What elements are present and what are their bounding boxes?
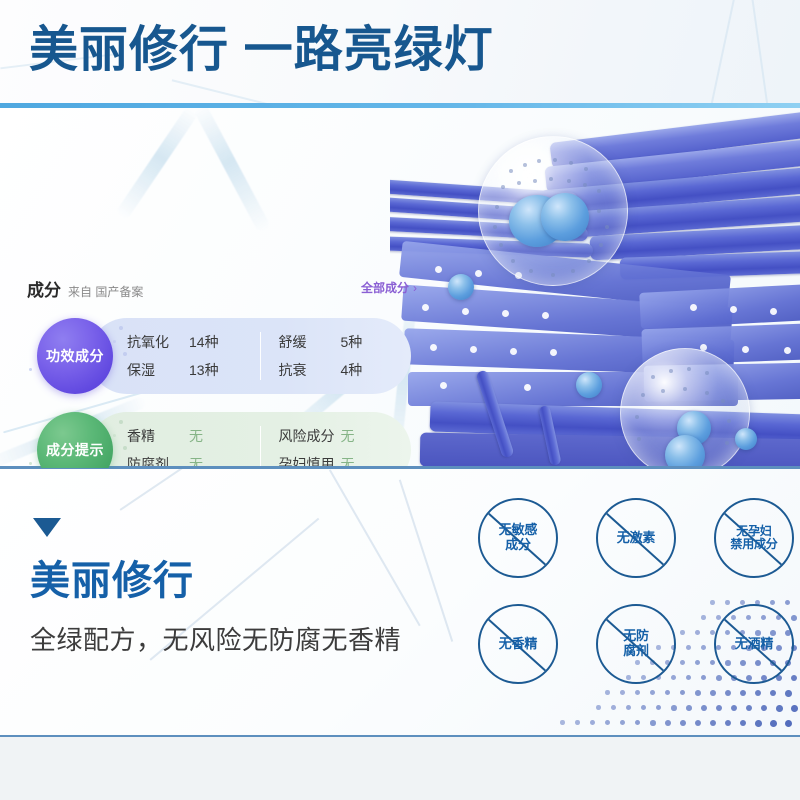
halftone-dot: [611, 705, 616, 710]
warning-item: 风险成分 无: [279, 426, 412, 446]
page-header: 美丽修行 一路亮绿灯: [0, 0, 800, 106]
claim-badge-line2: 成分: [505, 537, 531, 552]
claim-badge-label: 无激素: [617, 531, 655, 546]
structure-pip: [542, 312, 549, 319]
claim-badge-line1: 无酒精: [735, 636, 773, 651]
ingredient-card-header: 成分 来自 国产备案 全部成分›: [27, 276, 417, 302]
structure-pip: [550, 349, 557, 356]
brand-tagline: 全绿配方，无风险无防腐无香精: [30, 627, 401, 653]
claim-badge-line1: 无孕妇: [736, 524, 771, 538]
claim-badge-line1: 无香精: [499, 636, 537, 651]
claim-badge-line1: 无防: [623, 628, 649, 643]
structure-pip: [742, 346, 749, 353]
claim-badge-line1: 无敏感: [499, 522, 537, 537]
claim-badge-line2: 腐剂: [623, 643, 649, 658]
claim-badge-line1: 无激素: [617, 530, 655, 545]
halftone-dot: [755, 720, 762, 727]
all-ingredients-link[interactable]: 全部成分›: [361, 279, 417, 296]
halftone-dot: [605, 720, 610, 725]
halftone-dot: [710, 720, 716, 726]
claim-badge-no-alcohol[interactable]: 无酒精: [714, 604, 794, 684]
brand-name: 美丽修行: [30, 561, 194, 601]
halftone-dot: [761, 705, 767, 711]
structure-pip: [690, 304, 697, 311]
halftone-dot: [620, 720, 625, 725]
structure-pip: [440, 382, 447, 389]
claim-badge-line2: 禁用成分: [730, 537, 777, 551]
claim-badge-label: 无酒精: [735, 637, 773, 652]
structure-pip: [502, 310, 509, 317]
sphere-core: [735, 428, 757, 450]
halftone-dot: [656, 705, 661, 710]
halftone-dot: [740, 720, 746, 726]
claim-badge-label: 无孕妇 禁用成分: [730, 525, 777, 552]
structure-pip: [524, 384, 531, 391]
sphere-core: [448, 274, 474, 300]
ingredient-key: 舒缓: [279, 332, 341, 352]
halftone-dot: [791, 705, 798, 712]
all-ingredients-link-label: 全部成分: [361, 281, 409, 295]
claim-badge-no-fragrance[interactable]: 无香精: [478, 604, 558, 684]
sphere-core: [576, 372, 602, 398]
claim-badge-no-hormones[interactable]: 无激素: [596, 498, 676, 578]
warning-value: 无: [189, 426, 203, 446]
page-title: 美丽修行 一路亮绿灯: [29, 26, 494, 75]
decorative-diagonal: [329, 469, 420, 626]
ingredient-column-2: 舒缓 5种 抗衰 4种: [260, 332, 412, 380]
ingredient-card-heading: 成分: [27, 276, 61, 301]
decorative-wisp: [750, 0, 771, 106]
warning-item: 香精 无: [127, 426, 260, 446]
structure-pip: [784, 347, 791, 354]
ingredient-card-heading-group: 成分 来自 国产备案: [27, 276, 143, 301]
halftone-dot: [575, 720, 580, 725]
warning-column-2: 风险成分 无 孕妇慎用 无: [260, 426, 412, 468]
warning-column-1: 香精 无 防腐剂 无: [127, 426, 260, 468]
halftone-dot: [626, 705, 631, 710]
claim-badge-no-preservatives[interactable]: 无防 腐剂: [596, 604, 676, 684]
product-detail-page: 美丽修行 一路亮绿灯: [0, 0, 800, 800]
claim-badge-label: 无敏感 成分: [499, 523, 537, 552]
ingredient-value: 5种: [341, 332, 363, 352]
ingredient-key: 保湿: [127, 360, 189, 380]
halftone-dot: [746, 705, 752, 711]
sphere-core: [665, 435, 705, 468]
halftone-dot: [680, 720, 686, 726]
decorative-wisp: [172, 79, 299, 106]
ingredient-item: 抗衰 4种: [279, 360, 412, 380]
ingredient-key: 抗氧化: [127, 332, 189, 352]
ingredient-row-body: 抗氧化 14种 保湿 13种 舒缓 5种: [89, 318, 411, 394]
decorative-diagonal: [399, 480, 453, 642]
halftone-dot: [725, 720, 731, 726]
structure-pip: [462, 308, 469, 315]
sphere-core: [541, 193, 589, 241]
bottom-footer-band: [0, 735, 800, 800]
decorative-strand: [193, 108, 271, 233]
structure-pip: [770, 308, 777, 315]
halftone-dot: [686, 705, 692, 711]
product-visual-section: 成分 来自 国产备案 全部成分› 抗氧化: [0, 108, 800, 468]
halftone-dot: [791, 675, 797, 681]
ingredient-card: 成分 来自 国产备案 全部成分› 抗氧化: [0, 216, 440, 468]
chevron-right-icon: ›: [413, 281, 417, 295]
structure-pip: [730, 306, 737, 313]
structure-pip: [470, 346, 477, 353]
ingredient-value: 13种: [189, 360, 219, 380]
ingredient-key: 抗衰: [279, 360, 341, 380]
halftone-dot: [785, 720, 792, 727]
ingredient-item: 保湿 13种: [127, 360, 260, 380]
decorative-strand: [115, 108, 199, 221]
claim-badge-no-pregnancy-banned[interactable]: 无孕妇 禁用成分: [714, 498, 794, 578]
warning-key: 香精: [127, 426, 189, 446]
halftone-dot: [716, 705, 722, 711]
halftone-dot: [635, 720, 640, 725]
ingredient-row-badge-efficacy: 功效成分: [37, 318, 113, 394]
halftone-dot: [770, 720, 777, 727]
claim-badge-grid: 无敏感 成分 无激素 无孕妇 禁用成分 无香精 无防: [478, 498, 790, 698]
decorative-diagonal: [120, 469, 320, 510]
halftone-dot: [731, 705, 737, 711]
halftone-dot: [695, 720, 701, 726]
halftone-dot: [791, 615, 797, 621]
ingredient-value: 4种: [341, 360, 363, 380]
halftone-dot: [596, 705, 601, 710]
ingredient-item: 舒缓 5种: [279, 332, 412, 352]
warning-key: 风险成分: [279, 426, 341, 446]
warning-value: 无: [341, 426, 355, 446]
ingredient-card-source: 来自 国产备案: [68, 283, 143, 300]
ingredient-column-1: 抗氧化 14种 保湿 13种: [127, 332, 260, 380]
glass-sphere: [478, 136, 628, 286]
glass-sphere: [620, 348, 750, 468]
halftone-dot: [560, 720, 565, 725]
halftone-dot: [665, 720, 671, 726]
product-3d-illustration: [390, 108, 800, 468]
triangle-down-icon: [33, 518, 61, 537]
ingredient-row-efficacy: 抗氧化 14种 保湿 13种 舒缓 5种: [27, 318, 423, 394]
ingredient-row-body: 香精 无 防腐剂 无 风险成分 无: [89, 412, 411, 468]
ingredient-item: 抗氧化 14种: [127, 332, 260, 352]
ingredient-value: 14种: [189, 332, 219, 352]
halftone-dot: [701, 705, 707, 711]
halftone-dot: [641, 705, 646, 710]
decorative-wisp: [703, 0, 738, 106]
structure-pip: [510, 348, 517, 355]
halftone-dot: [590, 720, 595, 725]
halftone-dot: [650, 720, 656, 726]
halftone-dot: [776, 705, 783, 712]
ingredient-row-warnings: 香精 无 防腐剂 无 风险成分 无: [27, 412, 423, 468]
claim-badge-no-sensitizers[interactable]: 无敏感 成分: [478, 498, 558, 578]
structure-pip: [475, 270, 482, 277]
claim-badge-label: 无防 腐剂: [623, 629, 649, 658]
claim-badge-label: 无香精: [499, 637, 537, 652]
halftone-dot: [671, 705, 677, 711]
